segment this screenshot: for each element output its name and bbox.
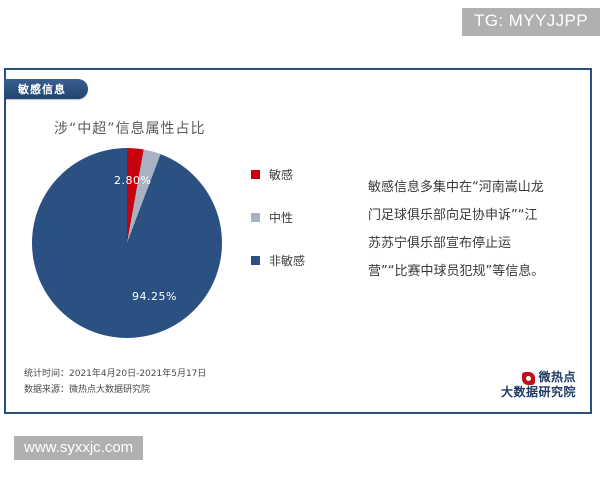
note-line: 门足球俱乐部向足协申诉”“江 — [368, 202, 590, 230]
pie-label-sensitive: 2.80% — [114, 174, 151, 187]
note-line: 敏感信息多集中在“河南嵩山龙 — [368, 174, 590, 202]
brand-logo: 微热点 大数据研究院 — [501, 371, 576, 400]
stat-time: 统计时间：2021年4月20日-2021年5月17日 — [24, 366, 206, 382]
brand-sub-name: 大数据研究院 — [501, 386, 576, 400]
card-section-tab-label: 敏感信息 — [18, 81, 66, 97]
legend-label: 敏感 — [269, 166, 293, 183]
legend-swatch-icon — [251, 256, 260, 265]
footer-meta: 统计时间：2021年4月20日-2021年5月17日 数据来源：微热点大数据研究… — [24, 366, 206, 398]
data-source: 数据来源：微热点大数据研究院 — [24, 382, 206, 398]
legend-label: 非敏感 — [269, 252, 305, 269]
legend-label: 中性 — [269, 209, 293, 226]
report-card: 敏感信息 涉“中超”信息属性占比 2.80% 94.25% 敏感中性非敏感 敏感… — [4, 68, 592, 414]
brand-name: 微热点 — [538, 371, 576, 385]
tg-watermark: TG: MYYJJPP — [462, 8, 600, 36]
pie-chart-block: 涉“中超”信息属性占比 2.80% 94.25% 敏感中性非敏感 — [16, 118, 366, 368]
legend-swatch-icon — [251, 213, 260, 222]
legend-item-中性[interactable]: 中性 — [251, 209, 361, 226]
card-section-tab: 敏感信息 — [4, 79, 88, 99]
brand-mark-icon — [522, 372, 535, 385]
legend-swatch-icon — [251, 170, 260, 179]
chart-legend: 敏感中性非敏感 — [251, 166, 361, 295]
analysis-note: 敏感信息多集中在“河南嵩山龙 门足球俱乐部向足协申诉”“江 苏苏宁俱乐部宣布停止… — [368, 174, 590, 286]
pie-chart: 2.80% 94.25% — [32, 148, 222, 338]
note-line: 苏苏宁俱乐部宣布停止运 — [368, 230, 590, 258]
legend-item-非敏感[interactable]: 非敏感 — [251, 252, 361, 269]
chart-title: 涉“中超”信息属性占比 — [54, 118, 206, 138]
legend-item-敏感[interactable]: 敏感 — [251, 166, 361, 183]
pie-label-nonsensitive: 94.25% — [132, 290, 177, 303]
site-watermark: www.syxxjc.com — [14, 436, 143, 460]
note-line: 营”“比赛中球员犯规”等信息。 — [368, 258, 590, 286]
brand-logo-top: 微热点 — [501, 371, 576, 385]
